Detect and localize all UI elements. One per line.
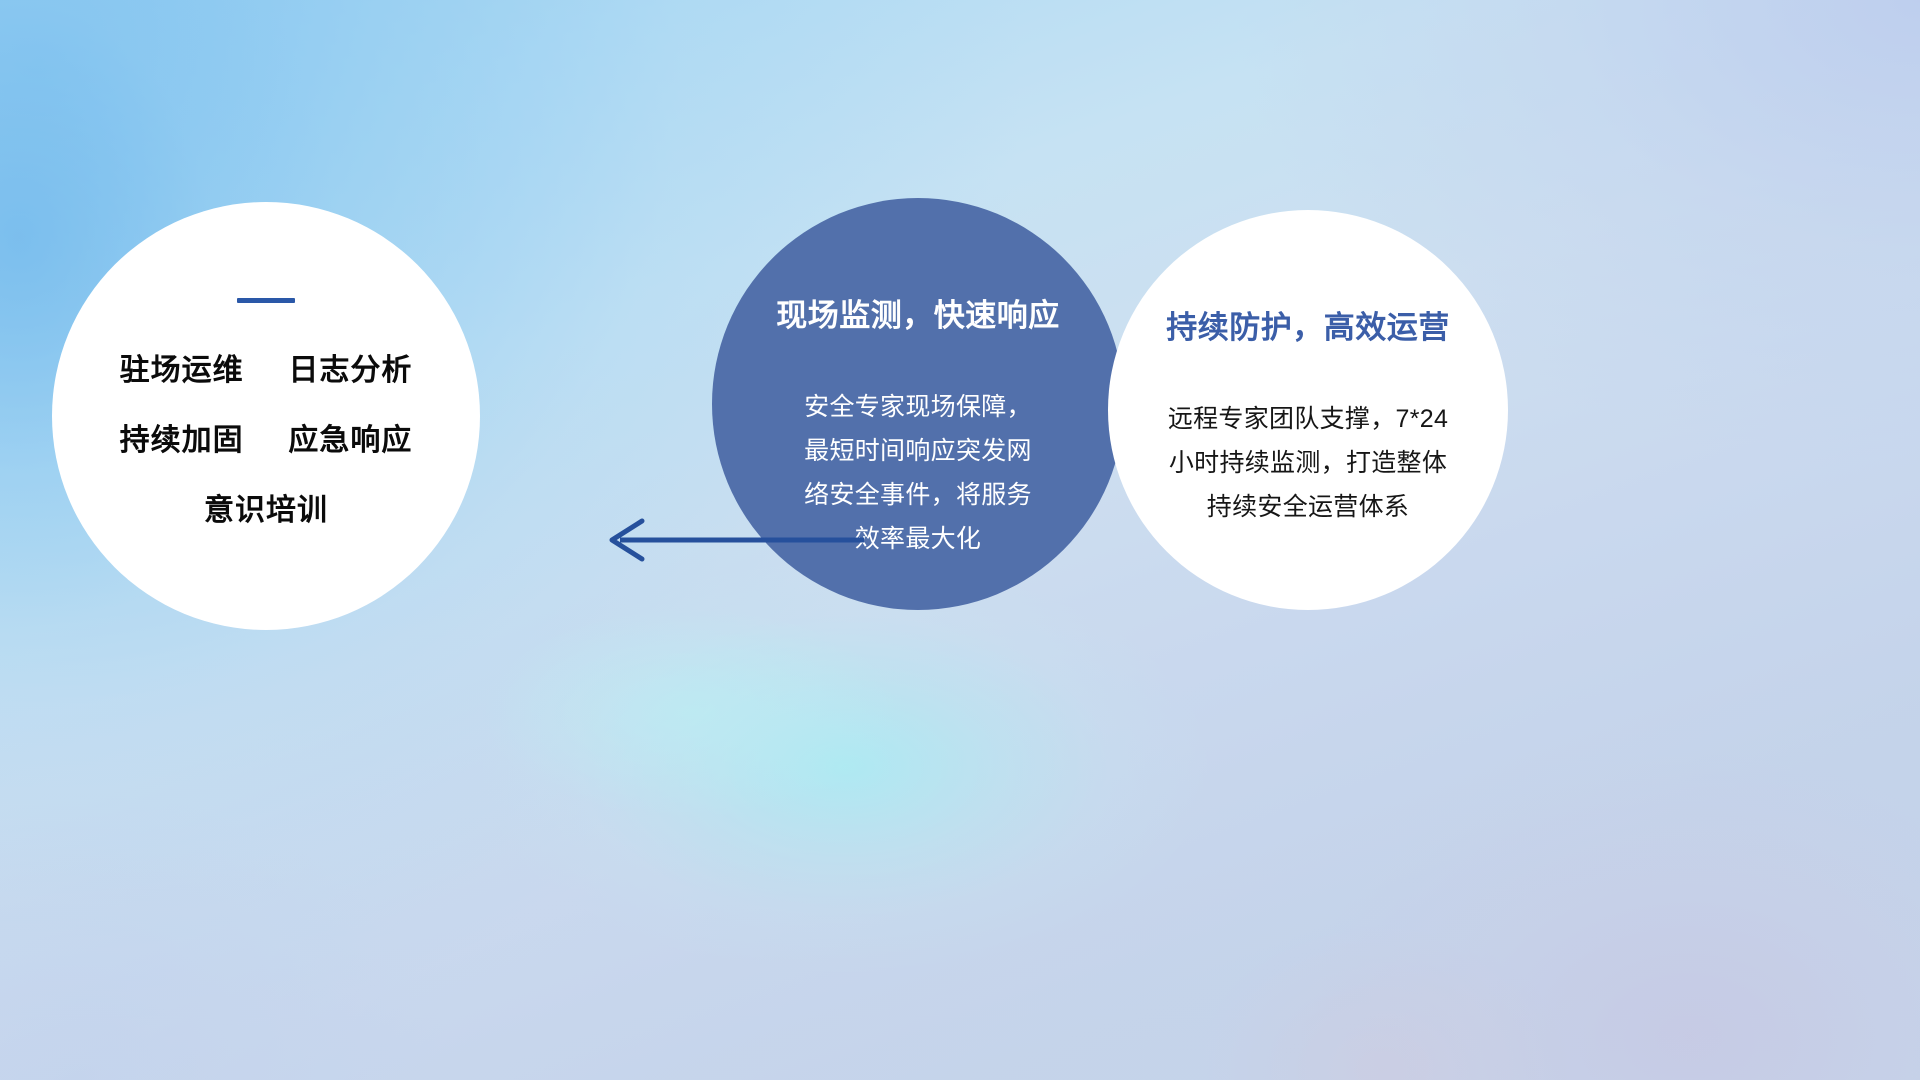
skill-label: 应急响应 [288, 424, 412, 457]
accent-divider-icon [237, 298, 295, 303]
skills-content: 驻场运维 日志分析 持续加固 应急响应 意识培训 [52, 298, 480, 529]
remote-body-line: 持续安全运营体系 [1128, 485, 1488, 529]
onsite-title: 现场监测，快速响应 [746, 290, 1090, 335]
remote-content: 持续防护，高效运营 远程专家团队支撑，7*24 小时持续监测，打造整体 持续安全… [1128, 302, 1488, 529]
skill-row: 驻场运维 日志分析 [52, 345, 480, 389]
skill-label: 驻场运维 [120, 354, 244, 387]
skill-row-single: 意识培训 [52, 485, 480, 529]
skills-circle[interactable]: 驻场运维 日志分析 持续加固 应急响应 意识培训 [52, 202, 480, 630]
remote-body: 远程专家团队支撑，7*24 小时持续监测，打造整体 持续安全运营体系 [1128, 397, 1488, 529]
remote-operations-circle[interactable]: 持续防护，高效运营 远程专家团队支撑，7*24 小时持续监测，打造整体 持续安全… [1108, 210, 1508, 610]
skill-label: 日志分析 [288, 354, 412, 387]
skill-row: 持续加固 应急响应 [52, 415, 480, 459]
remote-body-line: 小时持续监测，打造整体 [1128, 441, 1488, 485]
flow-arrow-icon [596, 508, 866, 572]
slide-canvas: 驻场运维 日志分析 持续加固 应急响应 意识培训 现场监测，快速响应 安全专家现… [0, 0, 1920, 1080]
onsite-body-line: 安全专家现场保障， [746, 385, 1090, 429]
remote-title: 持续防护，高效运营 [1128, 302, 1488, 347]
remote-body-line: 远程专家团队支撑，7*24 [1128, 397, 1488, 441]
onsite-body-line: 最短时间响应突发网 [746, 429, 1090, 473]
skill-label: 持续加固 [120, 424, 244, 457]
